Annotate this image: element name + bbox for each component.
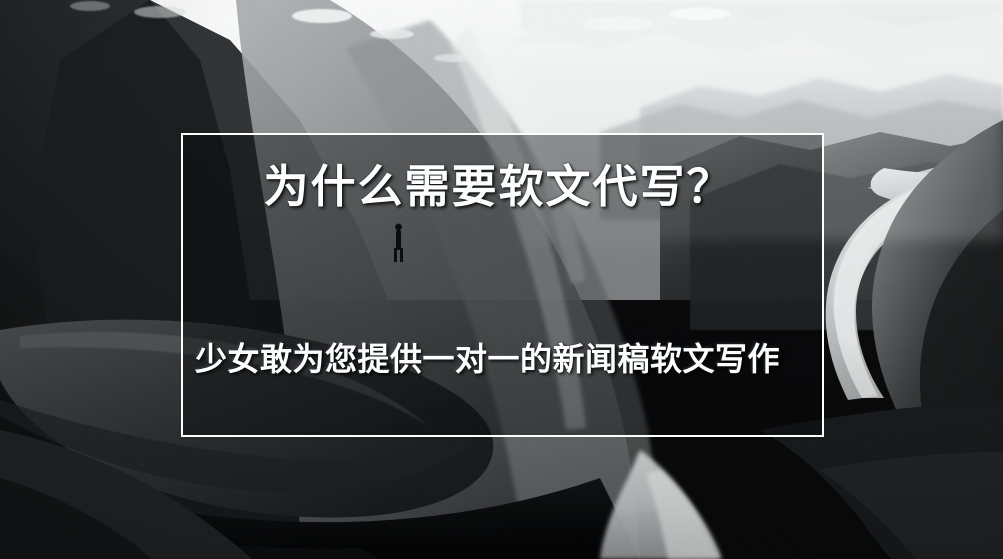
- page-title: 为什么需要软文代写？: [189, 161, 808, 213]
- banner-stage: 为什么需要软文代写？ 少女敢为您提供一对一的新闻稿软文写作 服务，为您节约沟通时…: [0, 0, 1003, 559]
- body-line-1: 少女敢为您提供一对一的新闻稿软文写作: [195, 334, 806, 386]
- text-card: 为什么需要软文代写？ 少女敢为您提供一对一的新闻稿软文写作 服务，为您节约沟通时…: [181, 133, 824, 437]
- body-copy: 少女敢为您提供一对一的新闻稿软文写作 服务，为您节约沟通时间， 写出更符合您 要…: [189, 231, 808, 437]
- text-card-inner: 为什么需要软文代写？ 少女敢为您提供一对一的新闻稿软文写作 服务，为您节约沟通时…: [183, 135, 822, 435]
